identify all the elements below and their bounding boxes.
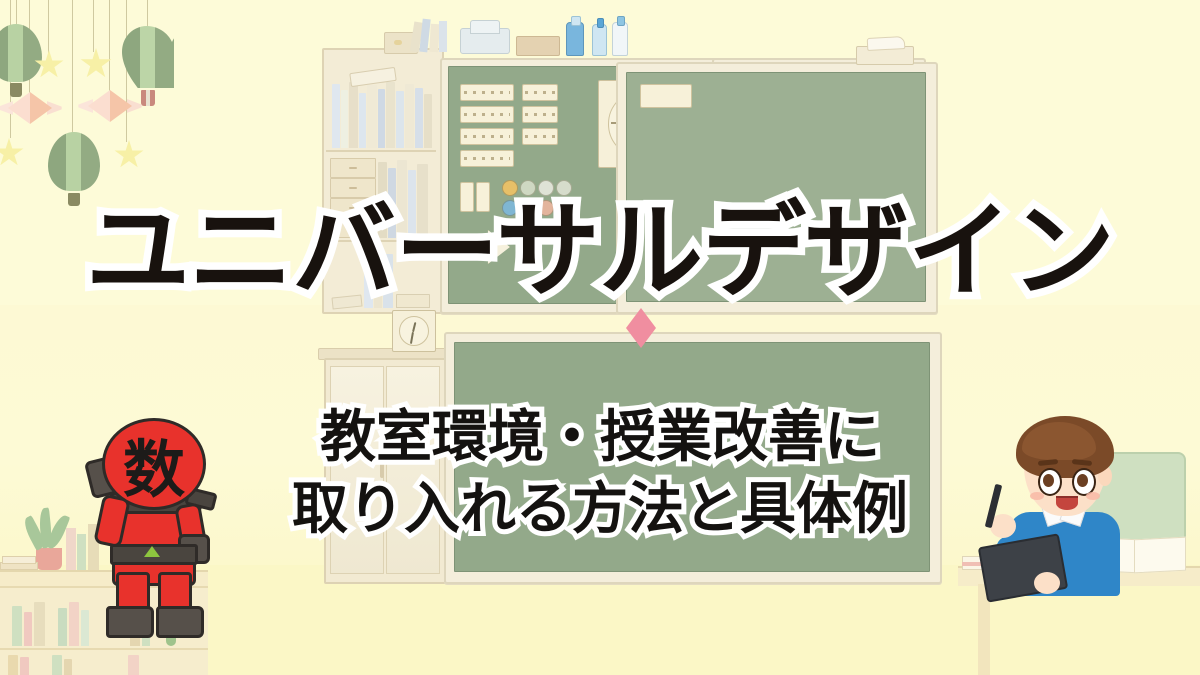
board-card [460,128,514,145]
desk-books-stack [0,552,36,570]
shelf-top-box-knob [394,40,402,45]
garland-string [147,0,148,26]
board-card [460,106,514,123]
boy-cheek [1086,492,1100,500]
chalkboard-label [640,84,692,108]
chalkboard-lower-face [454,342,930,572]
spray-bottle [592,24,607,56]
spray-bottle [612,22,628,56]
boy-hand [1034,572,1060,594]
storage-box [516,36,560,56]
rhombus-icon [88,90,132,122]
board-card [460,84,514,101]
garland-string [93,0,94,52]
hot-air-balloon-icon [48,132,100,208]
printer-box-top [470,20,500,34]
left-shelf-books-lower [8,654,198,675]
math-ranger-mascot: 数 [74,412,244,640]
heart-balloon-basket-stripe [146,90,150,106]
garland-string [72,0,73,134]
board-card [476,182,490,212]
board-magnets [502,180,568,242]
mascot-boot [156,606,204,638]
mascot-head-kanji: 数 [105,421,203,507]
garland-string [16,0,17,24]
mascot-head: 数 [102,418,206,510]
spray-bottle [566,22,584,56]
shelf-drawer [330,158,376,178]
mascot-boot [106,606,154,638]
boy-mouth [1056,496,1078,510]
garland-string [48,0,49,54]
boy-student [972,404,1172,594]
board-card [522,128,558,145]
shelf-drawer [330,218,376,238]
cabinet-glass-pane [386,366,440,574]
shelf-top-books [412,18,448,52]
rhombus-icon [8,92,52,124]
cabinet-glass-pane [330,366,384,574]
thumbnail-canvas: 数 ユニバーサルデザイン 教室環境・授業改善に 取り [0,0,1200,675]
bookshelf-divider [326,240,436,242]
plant-pot [36,548,62,570]
tissue-box [856,46,914,65]
garland-string [109,0,110,92]
board-card [522,84,558,101]
bookshelf-books-row [328,246,436,308]
bookshelf-divider [326,150,436,152]
heart-balloon-icon [122,26,174,88]
cabinet-handle [380,452,384,478]
board-card [460,150,514,167]
board-card [460,182,474,212]
boy-cheek [1030,492,1044,500]
boy-pupil [1043,474,1054,487]
bookshelf-books-row [378,156,434,238]
boy-pupil [1077,474,1088,487]
shelf-drawer [330,178,376,198]
board-card [522,106,558,123]
left-shelf-divider [0,648,208,650]
bookshelf-books-row [330,78,434,148]
shelf-drawer [330,198,376,218]
